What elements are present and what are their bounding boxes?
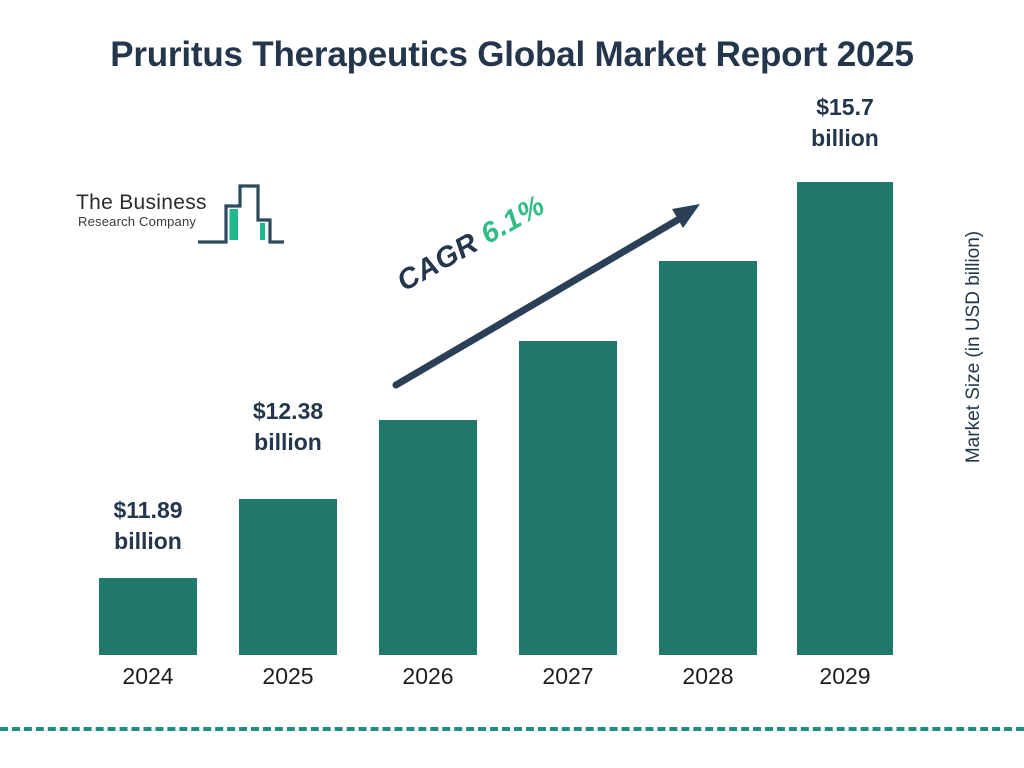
cagr-label: CAGR	[392, 227, 484, 298]
value-label-2029-unit: billion	[765, 123, 925, 154]
x-tick-2024: 2024	[68, 663, 228, 690]
value-label-2024-unit: billion	[68, 526, 228, 557]
bar-2029	[797, 182, 893, 655]
value-label-2024-amount: $11.89	[68, 495, 228, 526]
value-label-2025: $12.38 billion	[208, 396, 368, 457]
x-tick-2028: 2028	[628, 663, 788, 690]
cagr-annotation: CAGR 6.1%	[392, 189, 551, 299]
value-label-2025-amount: $12.38	[208, 396, 368, 427]
x-tick-2026: 2026	[348, 663, 508, 690]
bar-2025	[239, 499, 337, 655]
value-label-2029-amount: $15.7	[765, 92, 925, 123]
bar-2027	[519, 341, 617, 655]
cagr-value: 6.1%	[475, 189, 550, 250]
bar-2028	[659, 261, 757, 655]
value-label-2025-unit: billion	[208, 427, 368, 458]
footer-divider	[0, 727, 1024, 731]
bar-2024	[99, 578, 197, 655]
chart-page: Pruritus Therapeutics Global Market Repo…	[0, 0, 1024, 768]
x-tick-2027: 2027	[488, 663, 648, 690]
value-label-2024: $11.89 billion	[68, 495, 228, 556]
x-tick-2029: 2029	[765, 663, 925, 690]
y-axis-title: Market Size (in USD billion)	[963, 227, 985, 467]
bar-chart-plot: $11.89 billion $12.38 billion $15.7 bill…	[0, 0, 1024, 768]
x-tick-2025: 2025	[208, 663, 368, 690]
value-label-2029: $15.7 billion	[765, 92, 925, 153]
bar-2026	[379, 420, 477, 655]
